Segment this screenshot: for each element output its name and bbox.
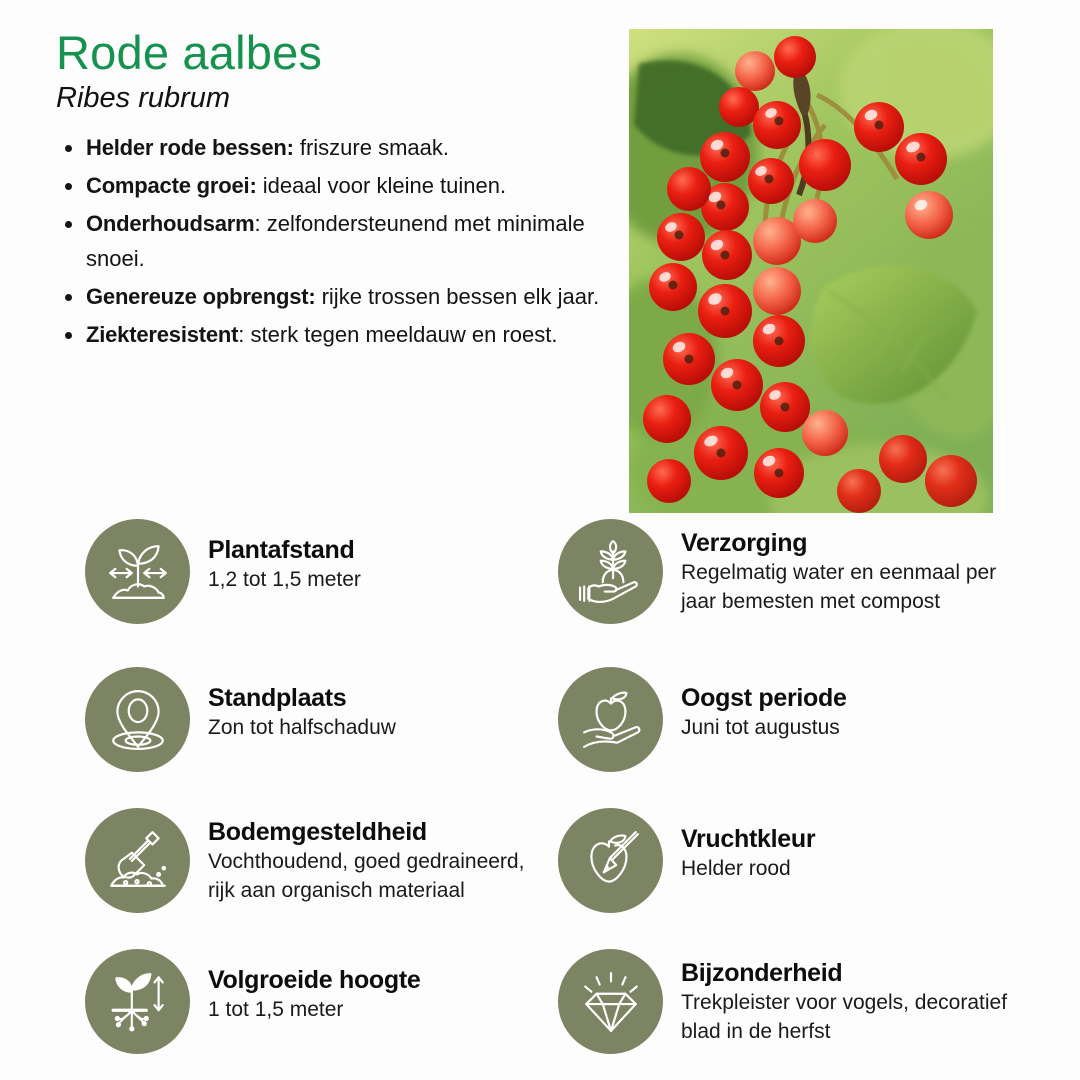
spec-title: Vruchtkleur	[681, 825, 815, 853]
redcurrant-photo	[629, 29, 993, 513]
list-item: Compacte groei: ideaal voor kleine tuine…	[56, 169, 616, 203]
spec-item-volgroeide-hoogte: Volgroeide hoogte 1 tot 1,5 meter	[85, 949, 421, 1054]
feature-label: Genereuze opbrengst:	[86, 284, 315, 309]
feature-text: : sterk tegen meeldauw en roest.	[238, 322, 557, 347]
hand-holding-apple-icon	[558, 667, 663, 772]
plant-info-card: Rode aalbes Ribes rubrum Helder rode bes…	[0, 0, 1080, 1080]
list-item: Genereuze opbrengst: rijke trossen besse…	[56, 280, 616, 314]
list-item: Helder rode bessen: friszure smaak.	[56, 131, 616, 165]
feature-text: rijke trossen bessen elk jaar.	[315, 284, 599, 309]
spec-title: Bodemgesteldheid	[208, 818, 538, 846]
spec-item-plantafstand: Plantafstand 1,2 tot 1,5 meter	[85, 519, 361, 624]
feature-label: Helder rode bessen:	[86, 135, 294, 160]
spec-item-oogst-periode: Oogst periode Juni tot augustus	[558, 667, 847, 772]
diamond-sparkle-icon	[558, 949, 663, 1054]
spec-title: Plantafstand	[208, 536, 361, 564]
spec-title: Standplaats	[208, 684, 396, 712]
spec-text: Volgroeide hoogte 1 tot 1,5 meter	[208, 949, 421, 1025]
spec-title: Bijzonderheid	[681, 959, 1011, 987]
spec-item-standplaats: Standplaats Zon tot halfschaduw	[85, 667, 396, 772]
header-column: Rode aalbes Ribes rubrum Helder rode bes…	[56, 28, 616, 356]
spec-desc: Helder rood	[681, 855, 815, 884]
spec-desc: Vochthoudend, goed gedraineerd, rijk aan…	[208, 848, 538, 906]
hand-holding-sprout-icon	[558, 519, 663, 624]
spec-desc: Trekpleister voor vogels, decoratief bla…	[681, 989, 1011, 1047]
spec-item-verzorging: Verzorging Regelmatig water en eenmaal p…	[558, 519, 1011, 624]
plant-photo	[629, 29, 993, 513]
spec-item-bodemgesteldheid: Bodemgesteldheid Vochthoudend, goed gedr…	[85, 808, 538, 913]
spec-item-bijzonderheid: Bijzonderheid Trekpleister voor vogels, …	[558, 949, 1011, 1054]
feature-label: Onderhoudsarm	[86, 211, 255, 236]
list-item: Ziekteresistent: sterk tegen meeldauw en…	[56, 318, 616, 352]
feature-list: Helder rode bessen: friszure smaak. Comp…	[56, 131, 616, 352]
list-item: Onderhoudsarm: zelfondersteunend met min…	[56, 207, 616, 275]
location-pin-icon	[85, 667, 190, 772]
feature-text: ideaal voor kleine tuinen.	[257, 173, 507, 198]
spec-text: Bijzonderheid Trekpleister voor vogels, …	[681, 949, 1011, 1047]
feature-label: Compacte groei:	[86, 173, 257, 198]
spec-text: Standplaats Zon tot halfschaduw	[208, 667, 396, 743]
page-title: Rode aalbes	[56, 28, 616, 77]
feature-label: Ziekteresistent	[86, 322, 238, 347]
spec-desc: Juni tot augustus	[681, 714, 847, 743]
plant-spacing-icon	[85, 519, 190, 624]
spec-title: Volgroeide hoogte	[208, 966, 421, 994]
spec-text: Bodemgesteldheid Vochthoudend, goed gedr…	[208, 808, 538, 906]
spec-title: Oogst periode	[681, 684, 847, 712]
spec-desc: Regelmatig water en eenmaal per jaar bem…	[681, 559, 1011, 617]
spec-text: Oogst periode Juni tot augustus	[681, 667, 847, 743]
spec-item-vruchtkleur: Vruchtkleur Helder rood	[558, 808, 815, 913]
plant-height-roots-icon	[85, 949, 190, 1054]
spec-text: Vruchtkleur Helder rood	[681, 808, 815, 884]
spec-text: Verzorging Regelmatig water en eenmaal p…	[681, 519, 1011, 617]
spec-grid: Plantafstand 1,2 tot 1,5 meter	[0, 519, 1080, 1080]
spec-title: Verzorging	[681, 529, 1011, 557]
spec-desc: 1 tot 1,5 meter	[208, 996, 421, 1025]
latin-name: Ribes rubrum	[56, 83, 616, 115]
shovel-soil-icon	[85, 808, 190, 913]
spec-desc: 1,2 tot 1,5 meter	[208, 566, 361, 595]
spec-text: Plantafstand 1,2 tot 1,5 meter	[208, 519, 361, 595]
spec-desc: Zon tot halfschaduw	[208, 714, 396, 743]
apple-paintbrush-icon	[558, 808, 663, 913]
feature-text: friszure smaak.	[294, 135, 449, 160]
